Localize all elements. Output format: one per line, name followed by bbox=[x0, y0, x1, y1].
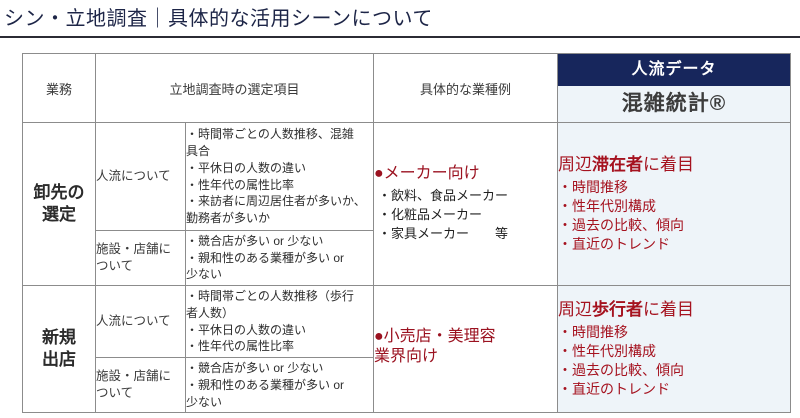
page-title: シン・立地調査｜具体的な活用シーンについて bbox=[0, 9, 433, 29]
list-item: ・性年代別構成 bbox=[558, 197, 790, 216]
list-item: ・直近のトレンド bbox=[558, 380, 790, 399]
list-item: ・時間推移 bbox=[558, 178, 790, 197]
list-item: 勤務者が多いか bbox=[186, 210, 373, 227]
table-row: 卸先の 選定 人流について ・時間帯ごとの人数推移、混雑 具合 ・平休日の人数の… bbox=[23, 123, 791, 231]
header-jinryu-band: 人流データ bbox=[558, 54, 790, 86]
row-1-jinryu-panel: 周辺滞在者に着目 ・時間推移 ・性年代別構成 ・過去の比較、傾向 ・直近のトレン… bbox=[558, 123, 791, 286]
list-item: ・時間推移 bbox=[558, 323, 790, 342]
row-1-jinryu-heading: 周辺滞在者に着目 bbox=[558, 154, 790, 176]
list-item: ・親和性のある業種が多い or bbox=[186, 250, 373, 267]
header-gyomu: 業務 bbox=[23, 54, 96, 123]
list-item: ・化粧品メーカー bbox=[374, 206, 557, 225]
row-2-jinryu-heading-bold: 歩行者 bbox=[592, 300, 643, 319]
row-2-sub-2-category-text: 施設・店舗に ついて bbox=[96, 369, 171, 400]
row-2-industry-example: ●小売店・美理容 業界向け bbox=[374, 285, 558, 412]
list-item: ・性年代の属性比率 bbox=[186, 177, 373, 194]
row-2-jinryu-heading-post: に着目 bbox=[643, 300, 694, 319]
list-item: ・平休日の人数の違い bbox=[186, 322, 373, 339]
list-item: ・平休日の人数の違い bbox=[186, 160, 373, 177]
list-item: 具合 bbox=[186, 143, 373, 160]
table-row: 新規 出店 人流について ・時間帯ごとの人数推移（歩行 者人数） ・平休日の人数… bbox=[23, 285, 791, 358]
list-item: ・過去の比較、傾向 bbox=[558, 361, 790, 380]
header-industry-examples: 具体的な業種例 bbox=[374, 54, 558, 123]
row-1-jinryu-heading-post: に着目 bbox=[643, 155, 694, 174]
list-item: 者人数） bbox=[186, 305, 373, 322]
row-1-gyomu-label: 卸先の 選定 bbox=[23, 123, 96, 286]
row-1-jinryu-heading-bold: 滞在者 bbox=[592, 155, 643, 174]
list-item: ・親和性のある業種が多い or bbox=[186, 377, 373, 394]
row-1-jinryu-heading-pre: 周辺 bbox=[558, 155, 592, 174]
row-1-example-heading: ●メーカー向け bbox=[374, 164, 557, 184]
row-2-gyomu-label: 新規 出店 bbox=[23, 285, 96, 412]
row-2-sub-1-items: ・時間帯ごとの人数推移（歩行 者人数） ・平休日の人数の違い ・性年代の属性比率 bbox=[186, 285, 374, 358]
slide-title-bar: シン・立地調査｜具体的な活用シーンについて bbox=[0, 0, 800, 38]
list-item: ・直近のトレンド bbox=[558, 235, 790, 254]
title-divider bbox=[0, 36, 800, 38]
row-1-sub-2-category: 施設・店舗に ついて bbox=[96, 231, 186, 286]
row-2-jinryu-heading: 周辺歩行者に着目 bbox=[558, 299, 790, 321]
list-item: 少ない bbox=[186, 394, 373, 411]
usage-scene-matrix: 業務 立地調査時の選定項目 具体的な業種例 人流データ 混雑統計® 卸先の 選定… bbox=[22, 53, 791, 413]
header-selection-items: 立地調査時の選定項目 bbox=[96, 54, 374, 123]
row-1-sub-1-category: 人流について bbox=[96, 123, 186, 231]
list-item: ・競合店が多い or 少ない bbox=[186, 360, 373, 377]
list-item: ・時間帯ごとの人数推移、混雑 bbox=[186, 126, 373, 143]
row-1-gyomu-text: 卸先の 選定 bbox=[34, 183, 85, 224]
list-item: ・性年代別構成 bbox=[558, 342, 790, 361]
list-item: ・過去の比較、傾向 bbox=[558, 216, 790, 235]
list-item: ・来訪者に周辺居住者が多いか、 bbox=[186, 193, 373, 210]
list-item: ・時間帯ごとの人数推移（歩行 bbox=[186, 288, 373, 305]
matrix-table-wrapper: 業務 立地調査時の選定項目 具体的な業種例 人流データ 混雑統計® 卸先の 選定… bbox=[22, 53, 790, 413]
row-1-industry-example: ●メーカー向け ・飲料、食品メーカー ・化粧品メーカー ・家具メーカー 等 bbox=[374, 123, 558, 286]
list-item: ・性年代の属性比率 bbox=[186, 338, 373, 355]
row-2-sub-2-items: ・競合店が多い or 少ない ・親和性のある業種が多い or 少ない bbox=[186, 358, 374, 413]
row-1-sub-1-category-text: 人流について bbox=[96, 169, 171, 183]
list-item: ・家具メーカー 等 bbox=[374, 225, 557, 244]
row-2-gyomu-text: 新規 出店 bbox=[42, 328, 76, 369]
row-1-sub-1-items: ・時間帯ごとの人数推移、混雑 具合 ・平休日の人数の違い ・性年代の属性比率 ・… bbox=[186, 123, 374, 231]
table-header-row: 業務 立地調査時の選定項目 具体的な業種例 人流データ 混雑統計® bbox=[23, 54, 791, 123]
row-2-jinryu-heading-pre: 周辺 bbox=[558, 300, 592, 319]
header-konzatsu-band: 混雑統計® bbox=[558, 86, 790, 122]
slide-root: シン・立地調査｜具体的な活用シーンについて 業務 立地調査時の選定項目 具体的な… bbox=[0, 0, 800, 418]
row-2-sub-2-category: 施設・店舗に ついて bbox=[96, 358, 186, 413]
row-2-example-heading: ●小売店・美理容 業界向け bbox=[374, 327, 557, 367]
header-jinryu-data-cell: 人流データ 混雑統計® bbox=[558, 54, 791, 123]
row-2-sub-1-category: 人流について bbox=[96, 285, 186, 358]
row-2-sub-1-category-text: 人流について bbox=[96, 314, 171, 328]
row-1-sub-2-items: ・競合店が多い or 少ない ・親和性のある業種が多い or 少ない bbox=[186, 231, 374, 286]
row-1-sub-2-category-text: 施設・店舗に ついて bbox=[96, 242, 171, 273]
list-item: ・競合店が多い or 少ない bbox=[186, 233, 373, 250]
list-item: 少ない bbox=[186, 266, 373, 283]
row-2-jinryu-panel: 周辺歩行者に着目 ・時間推移 ・性年代別構成 ・過去の比較、傾向 ・直近のトレン… bbox=[558, 285, 791, 412]
list-item: ・飲料、食品メーカー bbox=[374, 187, 557, 206]
